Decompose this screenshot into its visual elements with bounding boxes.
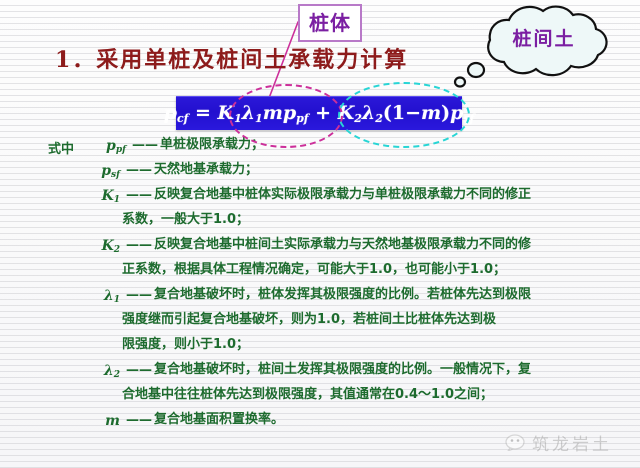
- thought-cloud: 桩间土: [438, 0, 640, 92]
- where-label: 式中: [0, 138, 80, 157]
- definition-row-k1: K1 —— 反映复合地基中桩体实际极限承载力与单桩极限承载力不同的修正: [0, 188, 640, 213]
- definition-dash: ——: [124, 363, 154, 378]
- formula-t2-p: p: [450, 102, 463, 124]
- definition-row-p-sf: psf —— 天然地基承载力；: [0, 163, 640, 188]
- definition-row-k2: K2 —— 反映复合地基中桩间土实际承载力与天然地基极限承载力不同的修: [0, 238, 640, 263]
- definition-row-lambda2-cont: 合地基中往往桩体先达到极限强度，其值通常在0.4～1.0之间；: [0, 388, 640, 413]
- bearing-capacity-formula: pcf = K1λ1mppf + K2λ2(1−m)psf: [164, 104, 475, 124]
- formula-t1-lambda: λ: [242, 102, 255, 124]
- definition-row-lambda1-cont2: 限强度，则小于1.0；: [0, 338, 640, 363]
- formula-t2-m: m: [421, 102, 441, 124]
- formula-t2-K: K: [338, 102, 355, 124]
- definition-text-lambda1-line2: 强度继而引起复合地基破坏，则为1.0，若桩间土比桩体先达到极: [122, 313, 496, 326]
- definitions-list: 式中 ppf —— 单桩极限承载力； psf —— 天然地基承载力； K1 ——…: [0, 138, 640, 438]
- definition-dash: ——: [130, 138, 160, 153]
- thought-cloud-label: 桩间土: [496, 24, 592, 51]
- definition-text-k1-line2: 系数，一般大于1.0；: [122, 213, 249, 226]
- definition-symbol-m: m: [74, 413, 124, 430]
- formula-t2-p-sub: sf: [463, 111, 474, 124]
- definition-symbol-p-sf: psf: [74, 163, 124, 180]
- definition-symbol-p-pf: ppf: [80, 138, 130, 155]
- formula-t1-p-sub: pf: [296, 111, 308, 124]
- slide-canvas: 桩体 桩间土 1．采用单桩及桩间土承载力计算 pcf = K1λ1mppf + …: [0, 0, 640, 468]
- formula-lhs-sub: cf: [177, 111, 188, 124]
- definition-dash: ——: [124, 163, 154, 178]
- definition-text-p-pf: 单桩极限承载力；: [160, 138, 264, 151]
- definition-text-k2-line2: 正系数，根据具体工程情况确定，可能大于1.0，也可能小于1.0；: [122, 263, 506, 276]
- formula-banner: pcf = K1λ1mppf + K2λ2(1−m)psf: [176, 96, 462, 130]
- definition-symbol-k2: K2: [74, 238, 124, 255]
- formula-t2-K-sub: 2: [354, 111, 362, 124]
- formula-t1-lambda-sub: 1: [255, 111, 263, 124]
- definition-row-lambda1: λ1 —— 复合地基破坏时，桩体发挥其极限强度的比例。若桩体先达到极限: [0, 288, 640, 313]
- definition-text-k1-line1: 反映复合地基中桩体实际极限承载力与单桩极限承载力不同的修正: [154, 188, 531, 201]
- callout-box-pile-body: 桩体: [298, 4, 362, 42]
- definition-dash: ——: [124, 188, 154, 203]
- definition-row-lambda2: λ2 —— 复合地基破坏时，桩间土发挥其极限强度的比例。一般情况下，复: [0, 363, 640, 388]
- page-title: 1．采用单桩及桩间土承载力计算: [55, 42, 408, 74]
- definition-dash: ——: [124, 238, 154, 253]
- formula-t2-paren-open: (: [383, 102, 392, 124]
- definition-text-k2-line1: 反映复合地基中桩间土实际承载力与天然地基极限承载力不同的修: [154, 238, 531, 251]
- watermark-text: 筑龙岩土: [532, 430, 612, 455]
- definition-text-p-sf: 天然地基承载力；: [154, 163, 258, 176]
- formula-t2-one: 1: [392, 102, 405, 124]
- formula-t2-lambda: λ: [362, 102, 375, 124]
- formula-lhs-base: p: [164, 102, 177, 124]
- definition-symbol-lambda2: λ2: [74, 363, 124, 380]
- wechat-bubble-icon: [505, 434, 527, 451]
- definition-row-lambda1-cont1: 强度继而引起复合地基破坏，则为1.0，若桩间土比桩体先达到极: [0, 313, 640, 338]
- definition-text-lambda2-line1: 复合地基破坏时，桩间土发挥其极限强度的比例。一般情况下，复: [154, 363, 531, 376]
- definition-row-p-pf: 式中 ppf —— 单桩极限承载力；: [0, 138, 640, 163]
- formula-t1-K: K: [218, 102, 235, 124]
- formula-t1-m: m: [263, 102, 283, 124]
- formula-equals: =: [195, 102, 211, 124]
- definition-dash: ——: [124, 288, 154, 303]
- definition-text-lambda1-line3: 限强度，则小于1.0；: [122, 338, 249, 351]
- formula-plus: +: [315, 102, 331, 124]
- definition-row-k2-cont: 正系数，根据具体工程情况确定，可能大于1.0，也可能小于1.0；: [0, 263, 640, 288]
- formula-t1-p: p: [283, 102, 296, 124]
- formula-t1-K-sub: 1: [234, 111, 242, 124]
- definition-dash: ——: [124, 413, 154, 428]
- definition-row-k1-cont: 系数，一般大于1.0；: [0, 213, 640, 238]
- callout-box-label: 桩体: [309, 13, 351, 33]
- definition-text-lambda2-line2: 合地基中往往桩体先达到极限强度，其值通常在0.4～1.0之间；: [122, 388, 493, 401]
- definition-symbol-lambda1: λ1: [74, 288, 124, 305]
- watermark: 筑龙岩土: [505, 430, 612, 455]
- definition-text-m: 复合地基面积置换率。: [154, 413, 284, 426]
- formula-t2-minus: −: [405, 102, 421, 124]
- definition-text-lambda1-line1: 复合地基破坏时，桩体发挥其极限强度的比例。若桩体先达到极限: [154, 288, 531, 301]
- definition-symbol-k1: K1: [74, 188, 124, 205]
- formula-t2-paren-close: ): [441, 102, 450, 124]
- formula-t2-lambda-sub: 2: [375, 111, 383, 124]
